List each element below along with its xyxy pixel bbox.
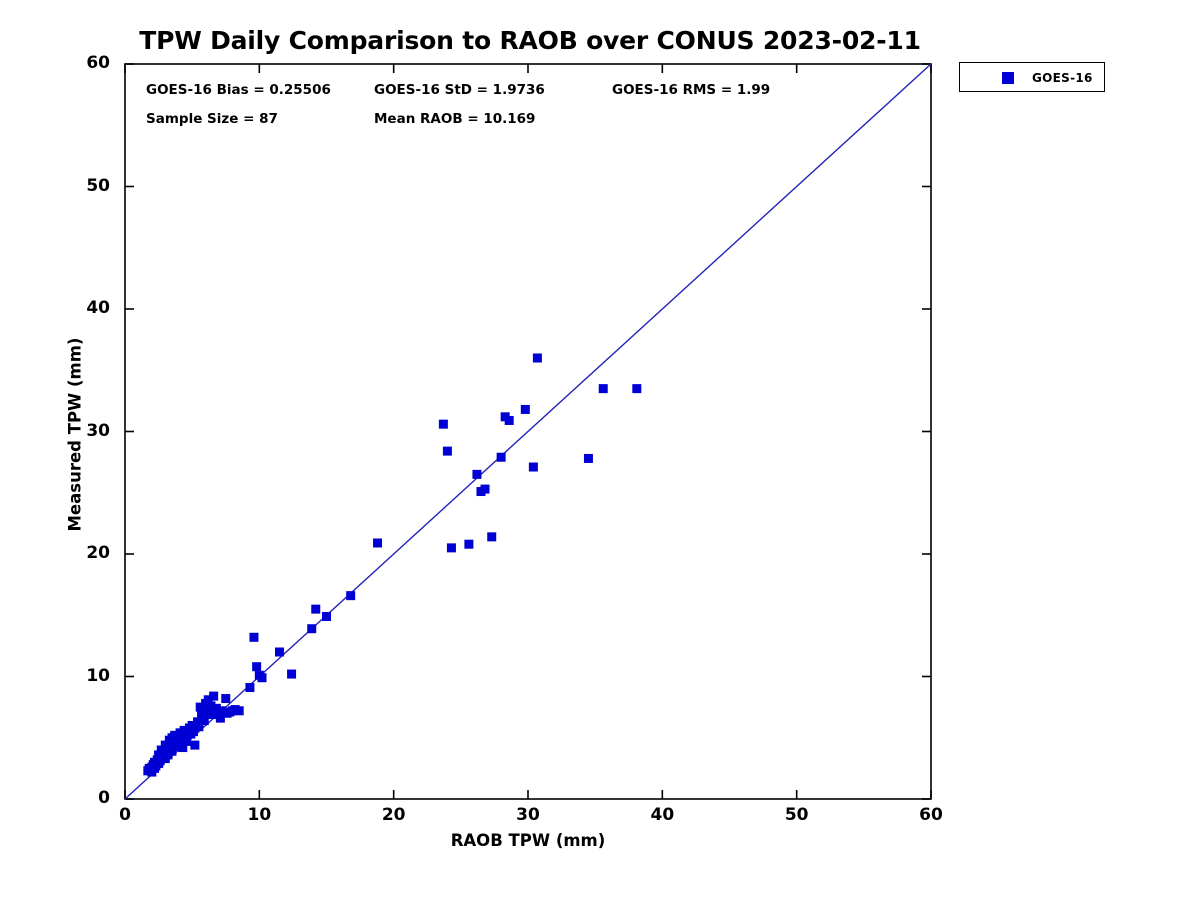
x-tick-label: 0 bbox=[95, 805, 155, 825]
scatter-point bbox=[311, 605, 320, 614]
scatter-point bbox=[599, 384, 608, 393]
scatter-point bbox=[464, 540, 473, 549]
scatter-point bbox=[221, 694, 230, 703]
y-tick-label: 10 bbox=[50, 666, 110, 686]
scatter-point bbox=[346, 591, 355, 600]
scatter-point bbox=[521, 405, 530, 414]
scatter-point bbox=[258, 673, 267, 682]
scatter-point bbox=[505, 416, 514, 425]
scatter-point bbox=[275, 648, 284, 657]
scatter-point bbox=[487, 532, 496, 541]
x-tick-label: 50 bbox=[767, 805, 827, 825]
y-tick-label: 20 bbox=[50, 543, 110, 563]
scatter-point bbox=[287, 670, 296, 679]
scatter-point bbox=[632, 384, 641, 393]
legend[interactable]: GOES-16 bbox=[959, 62, 1105, 92]
scatter-point bbox=[439, 420, 448, 429]
x-tick-label: 20 bbox=[364, 805, 424, 825]
scatter-point bbox=[481, 485, 490, 494]
scatter-point bbox=[533, 354, 542, 363]
scatter-point bbox=[245, 683, 254, 692]
y-tick-label: 60 bbox=[50, 53, 110, 73]
series-goes-16 bbox=[143, 354, 641, 777]
scatter-point bbox=[307, 624, 316, 633]
y-tick-label: 0 bbox=[50, 788, 110, 808]
x-tick-label: 30 bbox=[498, 805, 558, 825]
x-tick-label: 40 bbox=[632, 805, 692, 825]
scatter-point bbox=[235, 706, 244, 715]
x-tick-label: 10 bbox=[229, 805, 289, 825]
scatter-plot-area bbox=[0, 0, 1200, 900]
scatter-point bbox=[584, 454, 593, 463]
scatter-point bbox=[209, 692, 218, 701]
x-tick-label: 60 bbox=[901, 805, 961, 825]
chart-figure: TPW Daily Comparison to RAOB over CONUS … bbox=[0, 0, 1200, 900]
legend-marker-goes16 bbox=[1002, 72, 1014, 84]
scatter-point bbox=[529, 463, 538, 472]
y-tick-label: 40 bbox=[50, 298, 110, 318]
scatter-point bbox=[447, 543, 456, 552]
y-tick-label: 30 bbox=[50, 421, 110, 441]
scatter-point bbox=[472, 470, 481, 479]
scatter-point bbox=[443, 447, 452, 456]
legend-label-goes16: GOES-16 bbox=[1032, 71, 1093, 85]
scatter-point bbox=[373, 538, 382, 547]
scatter-point bbox=[252, 662, 261, 671]
y-tick-label: 50 bbox=[50, 176, 110, 196]
scatter-point bbox=[190, 741, 199, 750]
scatter-point bbox=[322, 612, 331, 621]
scatter-point bbox=[497, 453, 506, 462]
scatter-point bbox=[249, 633, 258, 642]
